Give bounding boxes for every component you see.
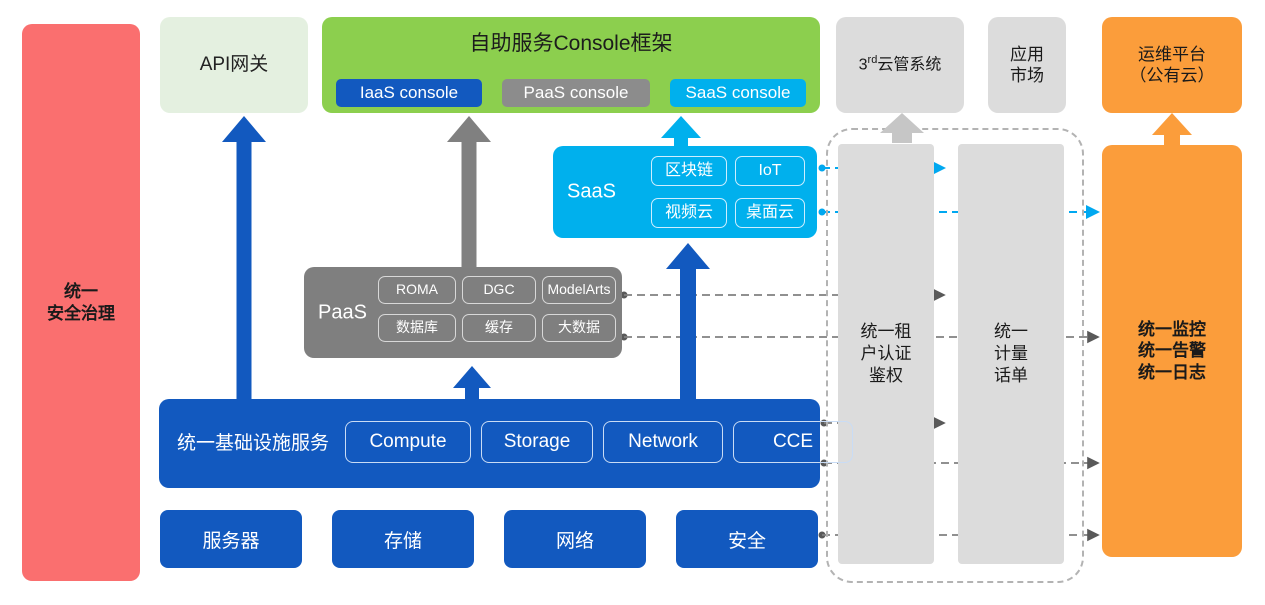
arrow-saas-to-console [661,116,701,148]
infra-pill-storage[interactable]: Storage [481,421,593,463]
saas-label: SaaS [567,180,616,205]
paas-label: PaaS [318,300,367,325]
third-cloud-superscript: rd [868,54,878,66]
infra-pill-network[interactable]: Network [603,421,723,463]
paas-console-chip[interactable]: PaaS console [502,79,650,107]
unified-security-governance-block: 统一 安全治理 [22,24,140,581]
api-gateway-block: API网关 [160,17,308,113]
paas-pill-bigdata[interactable]: 大数据 [542,314,616,342]
arrow-infra-to-paas [453,366,491,400]
arrow-infra-to-api-gateway [222,116,266,400]
unified-tenant-auth-column: 统一租 户认证 鉴权 [838,144,934,564]
hardware-security-block[interactable]: 安全 [676,510,818,568]
saas-pill-video-cloud[interactable]: 视频云 [651,198,727,228]
hardware-network-block[interactable]: 网络 [504,510,646,568]
infra-pill-compute[interactable]: Compute [345,421,471,463]
hardware-server-block[interactable]: 服务器 [160,510,302,568]
iaas-console-chip[interactable]: IaaS console [336,79,482,107]
unified-metering-column: 统一 计量 话单 [958,144,1064,564]
arrow-shared-services-to-third-cloud [880,113,924,143]
console-framework-title: 自助服务Console框架 [322,31,820,57]
saas-block: SaaS 区块链 IoT 视频云 桌面云 [553,146,817,238]
paas-pill-database[interactable]: 数据库 [378,314,456,342]
ops-platform-block: 运维平台 （公有云） [1102,17,1242,113]
third-cloud-label: 3rd云管系统 [859,54,942,75]
saas-pill-desktop-cloud[interactable]: 桌面云 [735,198,805,228]
unified-monitoring-block: 统一监控 统一告警 统一日志 [1102,145,1242,557]
app-market-block: 应用 市场 [988,17,1066,113]
arrow-paas-to-console [447,116,491,268]
third-party-cloud-management-block: 3rd云管系统 [836,17,964,113]
infra-pill-cce[interactable]: CCE [733,421,853,463]
arrow-infra-to-saas [666,243,710,400]
architecture-diagram: 统一 安全治理 API网关 自助服务Console框架 IaaS console… [0,0,1265,605]
paas-pill-roma[interactable]: ROMA [378,276,456,304]
saas-pill-iot[interactable]: IoT [735,156,805,186]
self-service-console-framework: 自助服务Console框架 IaaS console PaaS console … [322,17,820,113]
infra-label: 统一基础设施服务 [177,432,329,456]
saas-console-chip[interactable]: SaaS console [670,79,806,107]
hardware-storage-block[interactable]: 存储 [332,510,474,568]
unified-infrastructure-block: 统一基础设施服务 Compute Storage Network CCE [159,399,820,488]
paas-pill-cache[interactable]: 缓存 [462,314,536,342]
arrow-ops-body-to-ops-platform [1152,113,1192,147]
paas-pill-dgc[interactable]: DGC [462,276,536,304]
saas-pill-blockchain[interactable]: 区块链 [651,156,727,186]
paas-block: PaaS ROMA DGC ModelArts 数据库 缓存 大数据 [304,267,622,358]
paas-pill-modelarts[interactable]: ModelArts [542,276,616,304]
